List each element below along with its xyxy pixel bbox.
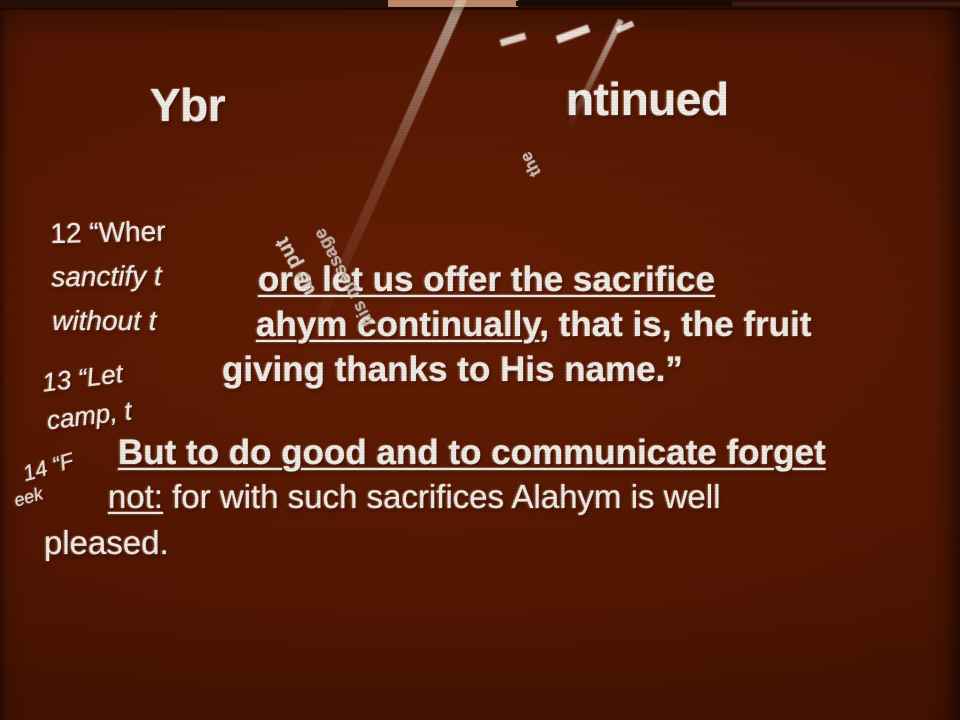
verse-12-line-3: without t — [52, 299, 167, 343]
verse-14-fragment: 14 “F eek — [20, 448, 82, 507]
strip-segment-dark-left — [0, 1, 390, 6]
top-letterbox-strip — [0, 0, 960, 9]
verse-12-line-1: 12 “Wher — [50, 216, 166, 249]
strip-segment-tan — [388, 0, 518, 7]
video-frame: Ybr ntinued 12 “Wher sanctify t without … — [0, 0, 960, 720]
body-line-5: not: for with such sacrifices Alahym is … — [108, 478, 721, 516]
slide-title-right-fragment: ntinued — [566, 72, 729, 126]
strip-segment-dark-mid — [516, 1, 732, 6]
body-line-4: But to do good and to communicate forget — [118, 433, 826, 473]
transition-spark-3 — [616, 21, 635, 34]
body-line-2: ahym continually, that is, the fruit — [256, 305, 812, 345]
verse-13-fragment: 13 “Let camp, t — [40, 354, 134, 440]
body-line-5-rest: for with such sacrifices Alahym is well — [163, 478, 721, 515]
strip-segment-dark-right — [732, 2, 960, 6]
verse-12-line-2: sanctify t — [51, 254, 167, 299]
verse-12-fragment: 12 “Wher sanctify t without t — [50, 210, 168, 344]
transition-spark-1 — [500, 33, 527, 47]
strip-hairline — [0, 8, 960, 10]
verse-13-line-1: 13 “Let — [40, 358, 124, 398]
body-line-6: pleased. — [44, 524, 169, 562]
ghost-text-c: the — [516, 148, 546, 180]
body-line-2-underlined: ahym continually — [256, 305, 539, 344]
slide-title-left-fragment: Ybr — [150, 78, 225, 132]
body-line-3: giving thanks to His name.” — [222, 350, 683, 390]
body-line-5-underlined: not: — [108, 478, 163, 515]
transition-spark-2 — [556, 24, 591, 43]
body-line-2-rest: , that is, the fruit — [539, 305, 811, 344]
